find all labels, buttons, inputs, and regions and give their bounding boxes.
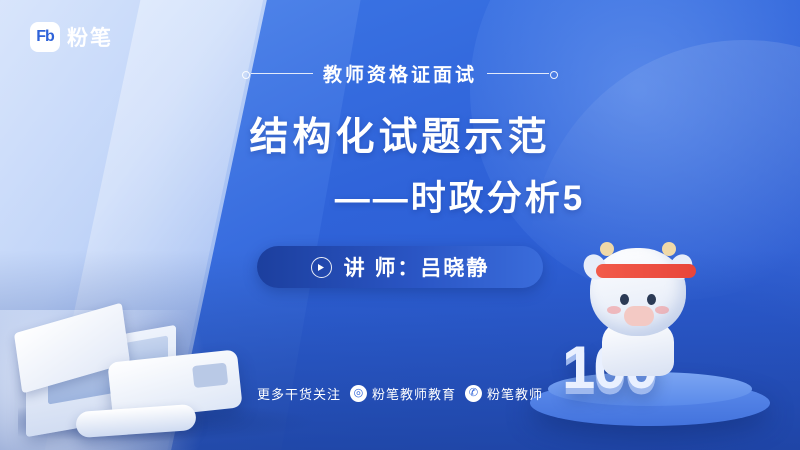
footer-item-wechat-label: 粉笔教师 xyxy=(487,384,543,403)
title-block: 教师资格证面试 结构化试题示范 ——时政分析5 xyxy=(0,60,800,221)
logo-mark-icon: Fb xyxy=(30,22,60,52)
eyebrow-rule-right-icon xyxy=(487,73,549,74)
eyebrow-row: 教师资格证面试 xyxy=(0,60,800,87)
eyebrow-rule-left-icon xyxy=(251,73,313,74)
page-title: 结构化试题示范 xyxy=(0,113,800,164)
decor-mascot-snout xyxy=(624,306,654,326)
lecturer-name: 讲 师：吕晓静 xyxy=(344,252,490,282)
decor-mascot-cheek-left xyxy=(607,306,621,314)
decor-mascot-horn-right xyxy=(662,242,676,256)
decor-mascot xyxy=(582,248,694,374)
footer-lead-text: 更多干货关注 xyxy=(257,384,341,403)
decor-mascot-headband xyxy=(596,264,696,278)
decor-mascot-eye-right xyxy=(647,294,656,305)
footer-item-wechat[interactable]: ✆ 粉笔教师 xyxy=(465,384,543,403)
weibo-icon: ◎ xyxy=(350,385,367,402)
footer-item-weibo-label: 粉笔教师教育 xyxy=(372,384,456,403)
decor-mascot-horn-left xyxy=(600,242,614,256)
play-icon xyxy=(311,257,332,278)
brand-logo: Fb 粉笔 xyxy=(30,22,113,52)
lecturer-badge-pill: 讲 师：吕晓静 xyxy=(257,246,543,288)
footer-follow-bar: 更多干货关注 ◎ 粉笔教师教育 ✆ 粉笔教师 xyxy=(257,384,543,403)
decor-mascot-eye-left xyxy=(620,294,629,305)
decor-mascot-head xyxy=(590,248,686,336)
slide-canvas: Fb 粉笔 教师资格证面试 结构化试题示范 ——时政分析5 讲 师：吕晓静 xyxy=(0,0,800,450)
footer-item-weibo[interactable]: ◎ 粉笔教师教育 xyxy=(350,384,456,403)
decor-mascot-cheek-right xyxy=(655,306,669,314)
page-subtitle: ——时政分析5 xyxy=(0,170,800,221)
decor-mascot-illustration: 100 xyxy=(520,202,780,432)
wechat-icon: ✆ xyxy=(465,385,482,402)
decor-package-illustration xyxy=(18,262,318,442)
eyebrow-text: 教师资格证面试 xyxy=(323,60,477,87)
logo-text: 粉笔 xyxy=(67,22,113,52)
